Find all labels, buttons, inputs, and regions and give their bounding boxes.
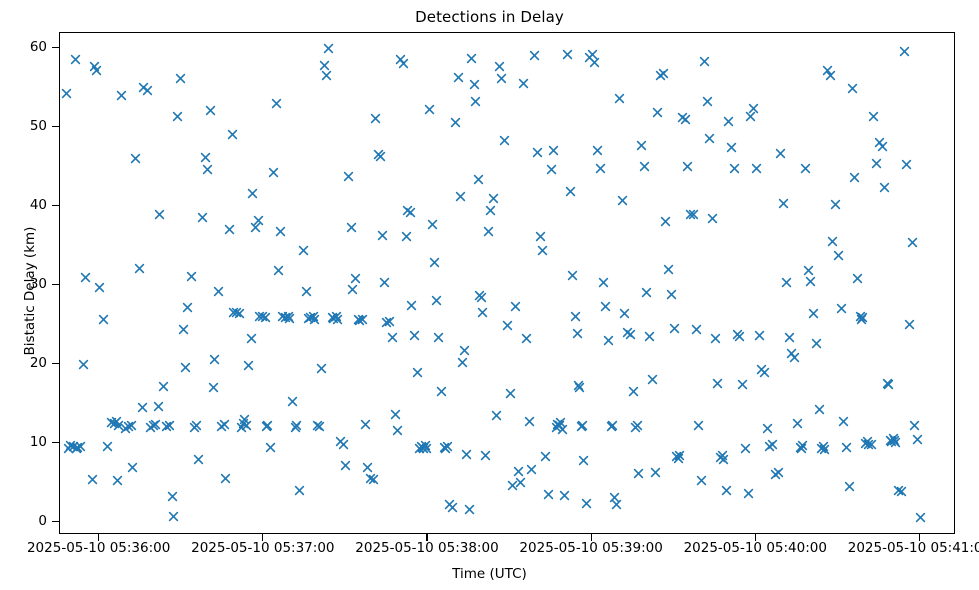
scatter-point	[901, 159, 912, 170]
scatter-point	[94, 282, 105, 293]
scatter-point	[290, 422, 301, 433]
scatter-point	[220, 473, 231, 484]
scatter-point	[808, 308, 819, 319]
scatter-point	[273, 265, 284, 276]
scatter-point	[889, 435, 900, 446]
scatter-point	[65, 440, 76, 451]
x-axis-tick-mark	[755, 534, 756, 541]
x-axis-tick-label: 2025-05-10 05:36:00	[27, 540, 170, 556]
scatter-point	[485, 205, 496, 216]
scatter-point	[457, 357, 468, 368]
scatter-point	[138, 82, 149, 93]
scatter-point	[377, 230, 388, 241]
scatter-point	[619, 308, 630, 319]
scatter-point	[328, 313, 339, 324]
scatter-point	[836, 303, 847, 314]
scatter-point	[557, 424, 568, 435]
scatter-point	[693, 420, 704, 431]
plot-area[interactable]	[59, 32, 955, 534]
scatter-point	[405, 207, 416, 218]
y-axis-label: Bistatic Delay (km)	[22, 201, 38, 381]
scatter-point	[277, 311, 288, 322]
scatter-point	[740, 443, 751, 454]
scatter-point	[231, 307, 242, 318]
scatter-point	[429, 257, 440, 268]
scatter-point	[287, 396, 298, 407]
scatter-point	[71, 443, 82, 454]
scatter-point	[857, 312, 868, 323]
scatter-point	[148, 420, 159, 431]
scatter-point	[353, 314, 364, 325]
scatter-point	[154, 209, 165, 220]
scatter-point	[368, 474, 379, 485]
scatter-point	[375, 151, 386, 162]
scatter-point	[89, 61, 100, 72]
scatter-point	[87, 474, 98, 485]
scatter-point	[431, 295, 442, 306]
scatter-point	[838, 416, 849, 427]
scatter-point	[584, 52, 595, 63]
scatter-point	[818, 441, 829, 452]
scatter-point	[440, 443, 451, 454]
scatter-point	[860, 438, 871, 449]
scatter-point	[885, 435, 896, 446]
scatter-point	[305, 312, 316, 323]
y-axis-tick-label: 60	[30, 39, 47, 55]
scatter-point	[518, 78, 529, 89]
scatter-point	[153, 401, 164, 412]
scatter-point	[123, 421, 134, 432]
scatter-point	[710, 333, 721, 344]
scatter-point	[803, 265, 814, 276]
scatter-point	[316, 363, 327, 374]
scatter-point	[759, 367, 770, 378]
scatter-point	[844, 481, 855, 492]
scatter-point	[775, 148, 786, 159]
scatter-point	[257, 311, 268, 322]
scatter-point	[754, 330, 765, 341]
scatter-point	[669, 323, 680, 334]
scatter-point	[406, 300, 417, 311]
scatter-point	[625, 329, 636, 340]
scatter-point	[609, 492, 620, 503]
scatter-point	[677, 112, 688, 123]
scatter-point	[424, 104, 435, 115]
scatter-point	[338, 439, 349, 450]
scatter-point	[592, 145, 603, 156]
scatter-point	[68, 441, 79, 452]
scatter-point	[551, 422, 562, 433]
scatter-point	[164, 420, 175, 431]
scatter-point	[658, 68, 669, 79]
scatter-point	[699, 56, 710, 67]
scatter-point	[543, 489, 554, 500]
scatter-point	[469, 79, 480, 90]
scatter-point	[499, 135, 510, 146]
scatter-point	[327, 312, 338, 323]
scatter-point	[904, 319, 915, 330]
scatter-point	[756, 364, 767, 375]
scatter-point	[72, 442, 83, 453]
scatter-point	[335, 436, 346, 447]
scatter-point	[552, 419, 563, 430]
scatter-point	[650, 467, 661, 478]
x-axis-tick-mark	[919, 534, 920, 541]
scatter-point	[915, 512, 926, 523]
scatter-point	[524, 416, 535, 427]
scatter-point	[480, 450, 491, 461]
scatter-point	[630, 422, 641, 433]
scatter-point	[182, 302, 193, 313]
scatter-point	[466, 53, 477, 64]
scatter-point	[691, 324, 702, 335]
scatter-point	[298, 245, 309, 256]
y-axis-tick-mark	[52, 205, 59, 206]
scatter-point	[209, 354, 220, 365]
scatter-point	[488, 193, 499, 204]
scatter-point	[600, 301, 611, 312]
scatter-point	[784, 332, 795, 343]
scatter-point	[227, 129, 238, 140]
scatter-point	[416, 441, 427, 452]
scatter-point	[702, 96, 713, 107]
scatter-point	[529, 50, 540, 61]
scatter-point	[886, 436, 897, 447]
scatter-point	[373, 149, 384, 160]
scatter-point	[748, 103, 759, 114]
x-axis-tick-mark	[591, 534, 592, 541]
scatter-point	[109, 418, 120, 429]
scatter-point	[890, 437, 901, 448]
x-axis-label: Time (UTC)	[0, 566, 979, 582]
scatter-point	[537, 245, 548, 256]
scatter-point	[102, 441, 113, 452]
scatter-point	[395, 54, 406, 65]
scatter-point	[350, 273, 361, 284]
scatter-point	[546, 164, 557, 175]
y-axis-tick-label: 10	[30, 434, 47, 450]
figure-canvas: Detections in Delay 0102030405060 Bistat…	[0, 0, 979, 590]
scatter-point	[303, 313, 314, 324]
scatter-point	[849, 172, 860, 183]
scatter-point	[510, 301, 521, 312]
scatter-point	[633, 468, 644, 479]
scatter-point	[309, 314, 320, 325]
scatter-point	[228, 307, 239, 318]
scatter-point	[491, 410, 502, 421]
x-axis-tick-mark	[262, 534, 263, 541]
scatter-point	[70, 54, 81, 65]
scatter-point	[354, 315, 365, 326]
scatter-point	[98, 314, 109, 325]
scatter-point	[381, 317, 392, 328]
scatter-point	[213, 286, 224, 297]
scatter-point	[116, 90, 127, 101]
scatter-point	[321, 70, 332, 81]
scatter-point	[745, 111, 756, 122]
scatter-point	[589, 57, 600, 68]
scatter-point	[595, 163, 606, 174]
scatter-point	[800, 163, 811, 174]
scatter-point	[186, 271, 197, 282]
scatter-point	[280, 312, 291, 323]
scatter-point	[603, 335, 614, 346]
scatter-point	[127, 462, 138, 473]
scatter-point	[444, 499, 455, 510]
scatter-point	[191, 420, 202, 431]
scatter-point	[548, 145, 559, 156]
scatter-point	[614, 93, 625, 104]
scatter-point	[314, 421, 325, 432]
y-axis-tick-mark	[52, 521, 59, 522]
scatter-point	[874, 137, 885, 148]
scatter-point	[134, 263, 145, 274]
scatter-point	[868, 111, 879, 122]
scatter-point	[421, 443, 432, 454]
scatter-point	[461, 449, 472, 460]
scatter-point	[786, 348, 797, 359]
scatter-point	[507, 480, 518, 491]
scatter-point	[606, 421, 617, 432]
scatter-point	[855, 311, 866, 322]
scatter-point	[202, 164, 213, 175]
scatter-point	[770, 469, 781, 480]
scatter-point	[275, 226, 286, 237]
scatter-point	[250, 222, 261, 233]
scatter-point	[577, 420, 588, 431]
scatter-point	[417, 442, 428, 453]
scatter-point	[559, 490, 570, 501]
scatter-point	[494, 61, 505, 72]
scatter-point	[473, 174, 484, 185]
scatter-point	[420, 440, 431, 451]
scatter-point	[253, 215, 264, 226]
scatter-point	[331, 311, 342, 322]
scatter-point	[265, 442, 276, 453]
scatter-point	[562, 49, 573, 60]
scatter-point	[496, 73, 507, 84]
scatter-point	[459, 345, 470, 356]
scatter-point	[841, 442, 852, 453]
scatter-point	[247, 188, 258, 199]
scatter-point	[412, 367, 423, 378]
x-axis-tick-mark	[98, 534, 99, 541]
scatter-point	[796, 443, 807, 454]
y-axis-tick-mark	[52, 47, 59, 48]
scatter-point	[636, 140, 647, 151]
scatter-point	[717, 450, 728, 461]
scatter-point	[208, 382, 219, 393]
scatter-point	[732, 329, 743, 340]
scatter-point	[680, 114, 691, 125]
scatter-point	[470, 96, 481, 107]
scatter-point	[477, 307, 488, 318]
scatter-point	[674, 450, 685, 461]
scatter-point	[805, 276, 816, 287]
scatter-point	[464, 504, 475, 515]
scatter-point	[789, 352, 800, 363]
scatter-point	[825, 70, 836, 81]
scatter-point	[175, 73, 186, 84]
scatter-point	[261, 421, 272, 432]
scatter-point	[526, 464, 537, 475]
scatter-point	[743, 488, 754, 499]
scatter-point	[254, 311, 265, 322]
scatter-point	[773, 467, 784, 478]
scatter-point	[555, 417, 566, 428]
scatter-point	[896, 486, 907, 497]
scatter-point	[879, 182, 890, 193]
scatter-point	[877, 141, 888, 152]
scatter-point	[641, 287, 652, 298]
scatter-point	[241, 420, 252, 431]
scatter-point	[308, 311, 319, 322]
scatter-point	[682, 161, 693, 172]
scatter-point	[113, 420, 124, 431]
scatter-point	[178, 324, 189, 335]
scatter-point	[340, 460, 351, 471]
scatter-point	[427, 219, 438, 230]
scatter-point	[632, 420, 643, 431]
scatter-point	[409, 330, 420, 341]
scatter-point	[639, 161, 650, 172]
scatter-point	[704, 133, 715, 144]
scatter-point	[137, 402, 148, 413]
scatter-point	[909, 420, 920, 431]
scatter-point	[663, 264, 674, 275]
scatter-point	[284, 313, 295, 324]
scatter-point	[291, 420, 302, 431]
x-axis-tick-label: 2025-05-10 05:41:00	[848, 540, 979, 556]
scatter-point	[402, 205, 413, 216]
scatter-point	[106, 417, 117, 428]
scatter-point	[871, 158, 882, 169]
scatter-point	[319, 60, 330, 71]
scatter-point	[168, 511, 179, 522]
scatter-point	[751, 163, 762, 174]
scatter-series	[60, 33, 954, 533]
scatter-point	[647, 374, 658, 385]
scatter-point	[360, 419, 371, 430]
scatter-point	[847, 83, 858, 94]
scatter-point	[283, 311, 294, 322]
scatter-point	[598, 277, 609, 288]
scatter-point	[447, 502, 458, 513]
scatter-point	[655, 70, 666, 81]
scatter-point	[268, 167, 279, 178]
scatter-point	[505, 388, 516, 399]
scatter-point	[814, 404, 825, 415]
scatter-point	[816, 443, 827, 454]
scatter-point	[390, 409, 401, 420]
scatter-point	[570, 311, 581, 322]
scatter-point	[158, 381, 169, 392]
scatter-point	[205, 105, 216, 116]
scatter-point	[819, 444, 830, 455]
scatter-point	[565, 186, 576, 197]
scatter-point	[219, 419, 230, 430]
scatter-point	[883, 379, 894, 390]
scatter-point	[436, 386, 447, 397]
scatter-point	[607, 420, 618, 431]
scatter-point	[644, 331, 655, 342]
scatter-point	[723, 116, 734, 127]
scatter-point	[734, 331, 745, 342]
scatter-point	[888, 433, 899, 444]
scatter-point	[332, 314, 343, 325]
scatter-point	[200, 152, 211, 163]
scatter-point	[111, 416, 122, 427]
scatter-point	[866, 439, 877, 450]
scatter-point	[362, 462, 373, 473]
scatter-point	[696, 475, 707, 486]
scatter-point	[78, 359, 89, 370]
scatter-point	[567, 270, 578, 281]
scatter-point	[729, 163, 740, 174]
scatter-point	[726, 142, 737, 153]
scatter-point	[234, 308, 245, 319]
scatter-point	[764, 441, 775, 452]
scatter-point	[126, 420, 137, 431]
scatter-point	[167, 491, 178, 502]
scatter-point	[893, 485, 904, 496]
scatter-point	[145, 422, 156, 433]
scatter-point	[685, 209, 696, 220]
scatter-point	[581, 498, 592, 509]
scatter-point	[189, 422, 200, 433]
scatter-point	[781, 277, 792, 288]
scatter-point	[521, 333, 532, 344]
y-axis-tick-label: 50	[30, 118, 47, 134]
scatter-point	[856, 314, 867, 325]
scatter-point	[216, 421, 227, 432]
scatter-point	[238, 418, 249, 429]
scatter-point	[671, 451, 682, 462]
scatter-point	[442, 441, 453, 452]
page-title: Detections in Delay	[0, 8, 979, 26]
x-axis-tick-label: 2025-05-10 05:40:00	[684, 540, 827, 556]
scatter-point	[502, 320, 513, 331]
scatter-point	[172, 111, 183, 122]
scatter-point	[833, 250, 844, 261]
scatter-point	[193, 454, 204, 465]
scatter-point	[830, 199, 841, 210]
x-axis-tick-label: 2025-05-10 05:37:00	[191, 540, 334, 556]
scatter-point	[346, 222, 357, 233]
scatter-point	[863, 439, 874, 450]
scatter-point	[912, 434, 923, 445]
scatter-point	[455, 191, 466, 202]
scatter-point	[450, 117, 461, 128]
scatter-point	[63, 443, 74, 454]
y-axis-tick-mark	[52, 126, 59, 127]
scatter-point	[882, 378, 893, 389]
scatter-point	[554, 420, 565, 431]
scatter-point	[907, 237, 918, 248]
scatter-point	[737, 379, 748, 390]
scatter-point	[347, 284, 358, 295]
scatter-point	[827, 236, 838, 247]
scatter-point	[91, 65, 102, 76]
scatter-point	[532, 147, 543, 158]
scatter-point	[673, 453, 684, 464]
scatter-point	[721, 485, 732, 496]
y-axis-tick-mark	[52, 363, 59, 364]
scatter-point	[476, 292, 487, 303]
scatter-point	[379, 277, 390, 288]
scatter-point	[792, 418, 803, 429]
y-axis-tick-label: 0	[38, 513, 47, 529]
